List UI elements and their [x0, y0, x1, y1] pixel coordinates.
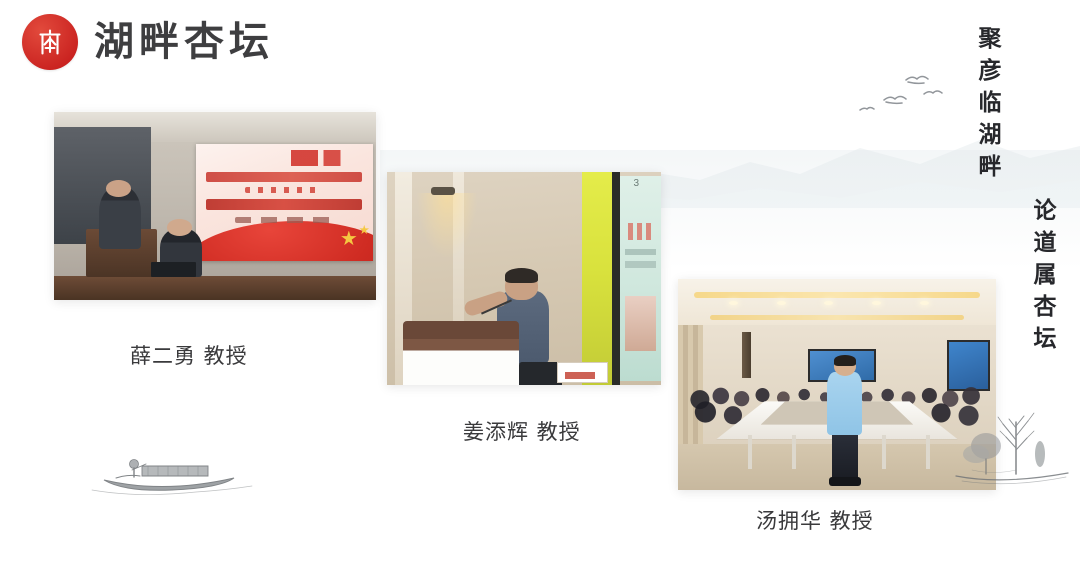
red-round-seal-icon: [22, 14, 78, 70]
poster-number: 3: [634, 178, 640, 189]
lakeside-trees-ink-icon: [952, 392, 1080, 496]
couplet-line-lower: 论道属杏坛: [1031, 198, 1054, 358]
slide-canvas: 湖畔杏坛 聚彦临湖畔 论道属杏坛: [0, 0, 1080, 575]
page-header: 湖畔杏坛: [22, 14, 274, 70]
photo-caption-1: 薛二勇 教授: [130, 340, 248, 370]
page-title: 湖畔杏坛: [94, 22, 274, 62]
couplet-line-upper: 聚彦临湖畔: [976, 26, 999, 186]
photo-caption-3: 汤拥华 教授: [756, 505, 874, 535]
photo-speaker-podium[interactable]: 3: [387, 172, 661, 385]
photo-lecture-hall[interactable]: [54, 112, 376, 300]
photo-caption-2: 姜添辉 教授: [463, 416, 581, 446]
flying-birds-ink-icon: [848, 58, 968, 128]
photo-seminar-room[interactable]: [678, 279, 996, 490]
projection-screen: [196, 144, 373, 261]
fishing-boat-ink-icon: [86, 434, 262, 510]
